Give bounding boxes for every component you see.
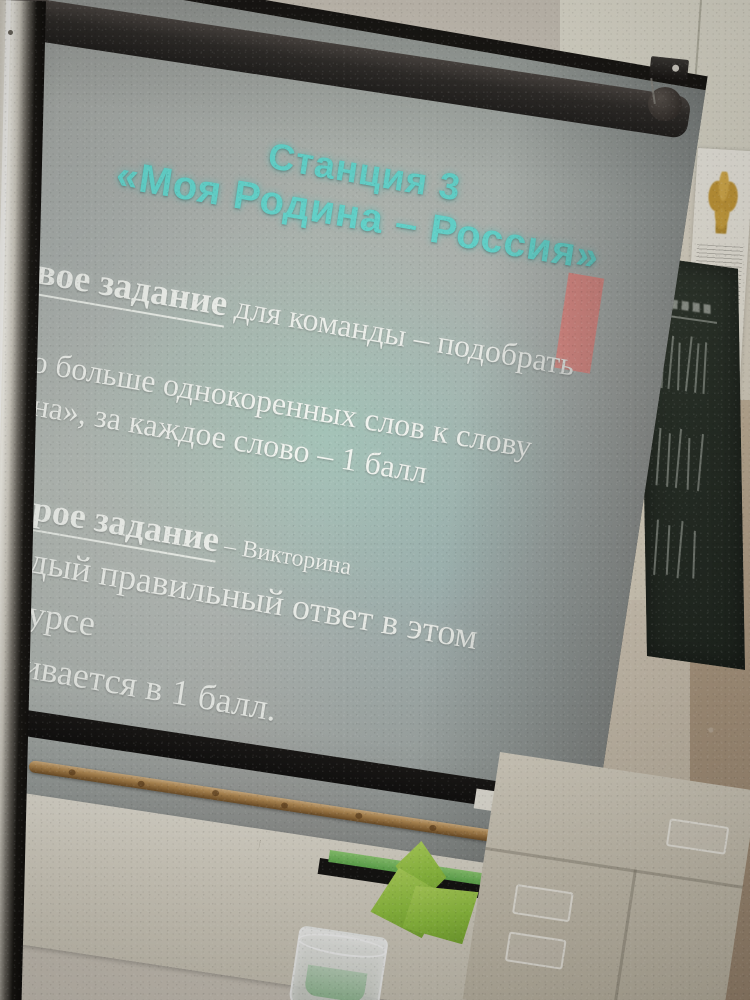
slide-task-1: Первое задание для команды – подобрать к… bbox=[0, 236, 606, 521]
plastic-cup[interactable] bbox=[288, 925, 389, 1000]
cup-contents bbox=[304, 965, 368, 1000]
cabinet-handle-right[interactable] bbox=[666, 818, 730, 855]
cabinet-handle-left-lower[interactable] bbox=[505, 931, 567, 969]
cabinet-handle-left[interactable] bbox=[512, 884, 574, 922]
frame-screw bbox=[8, 30, 13, 35]
cabinet-unit[interactable] bbox=[463, 752, 750, 1000]
slide-title: Станция 3 «Моя Родина – Россия» bbox=[78, 104, 643, 287]
photo-scene: Станция 3 «Моя Родина – Россия» Первое з… bbox=[0, 0, 750, 1000]
wall-bracket bbox=[649, 56, 689, 82]
green-cleaning-cloth[interactable] bbox=[368, 835, 486, 945]
double-headed-eagle-icon bbox=[706, 171, 740, 235]
